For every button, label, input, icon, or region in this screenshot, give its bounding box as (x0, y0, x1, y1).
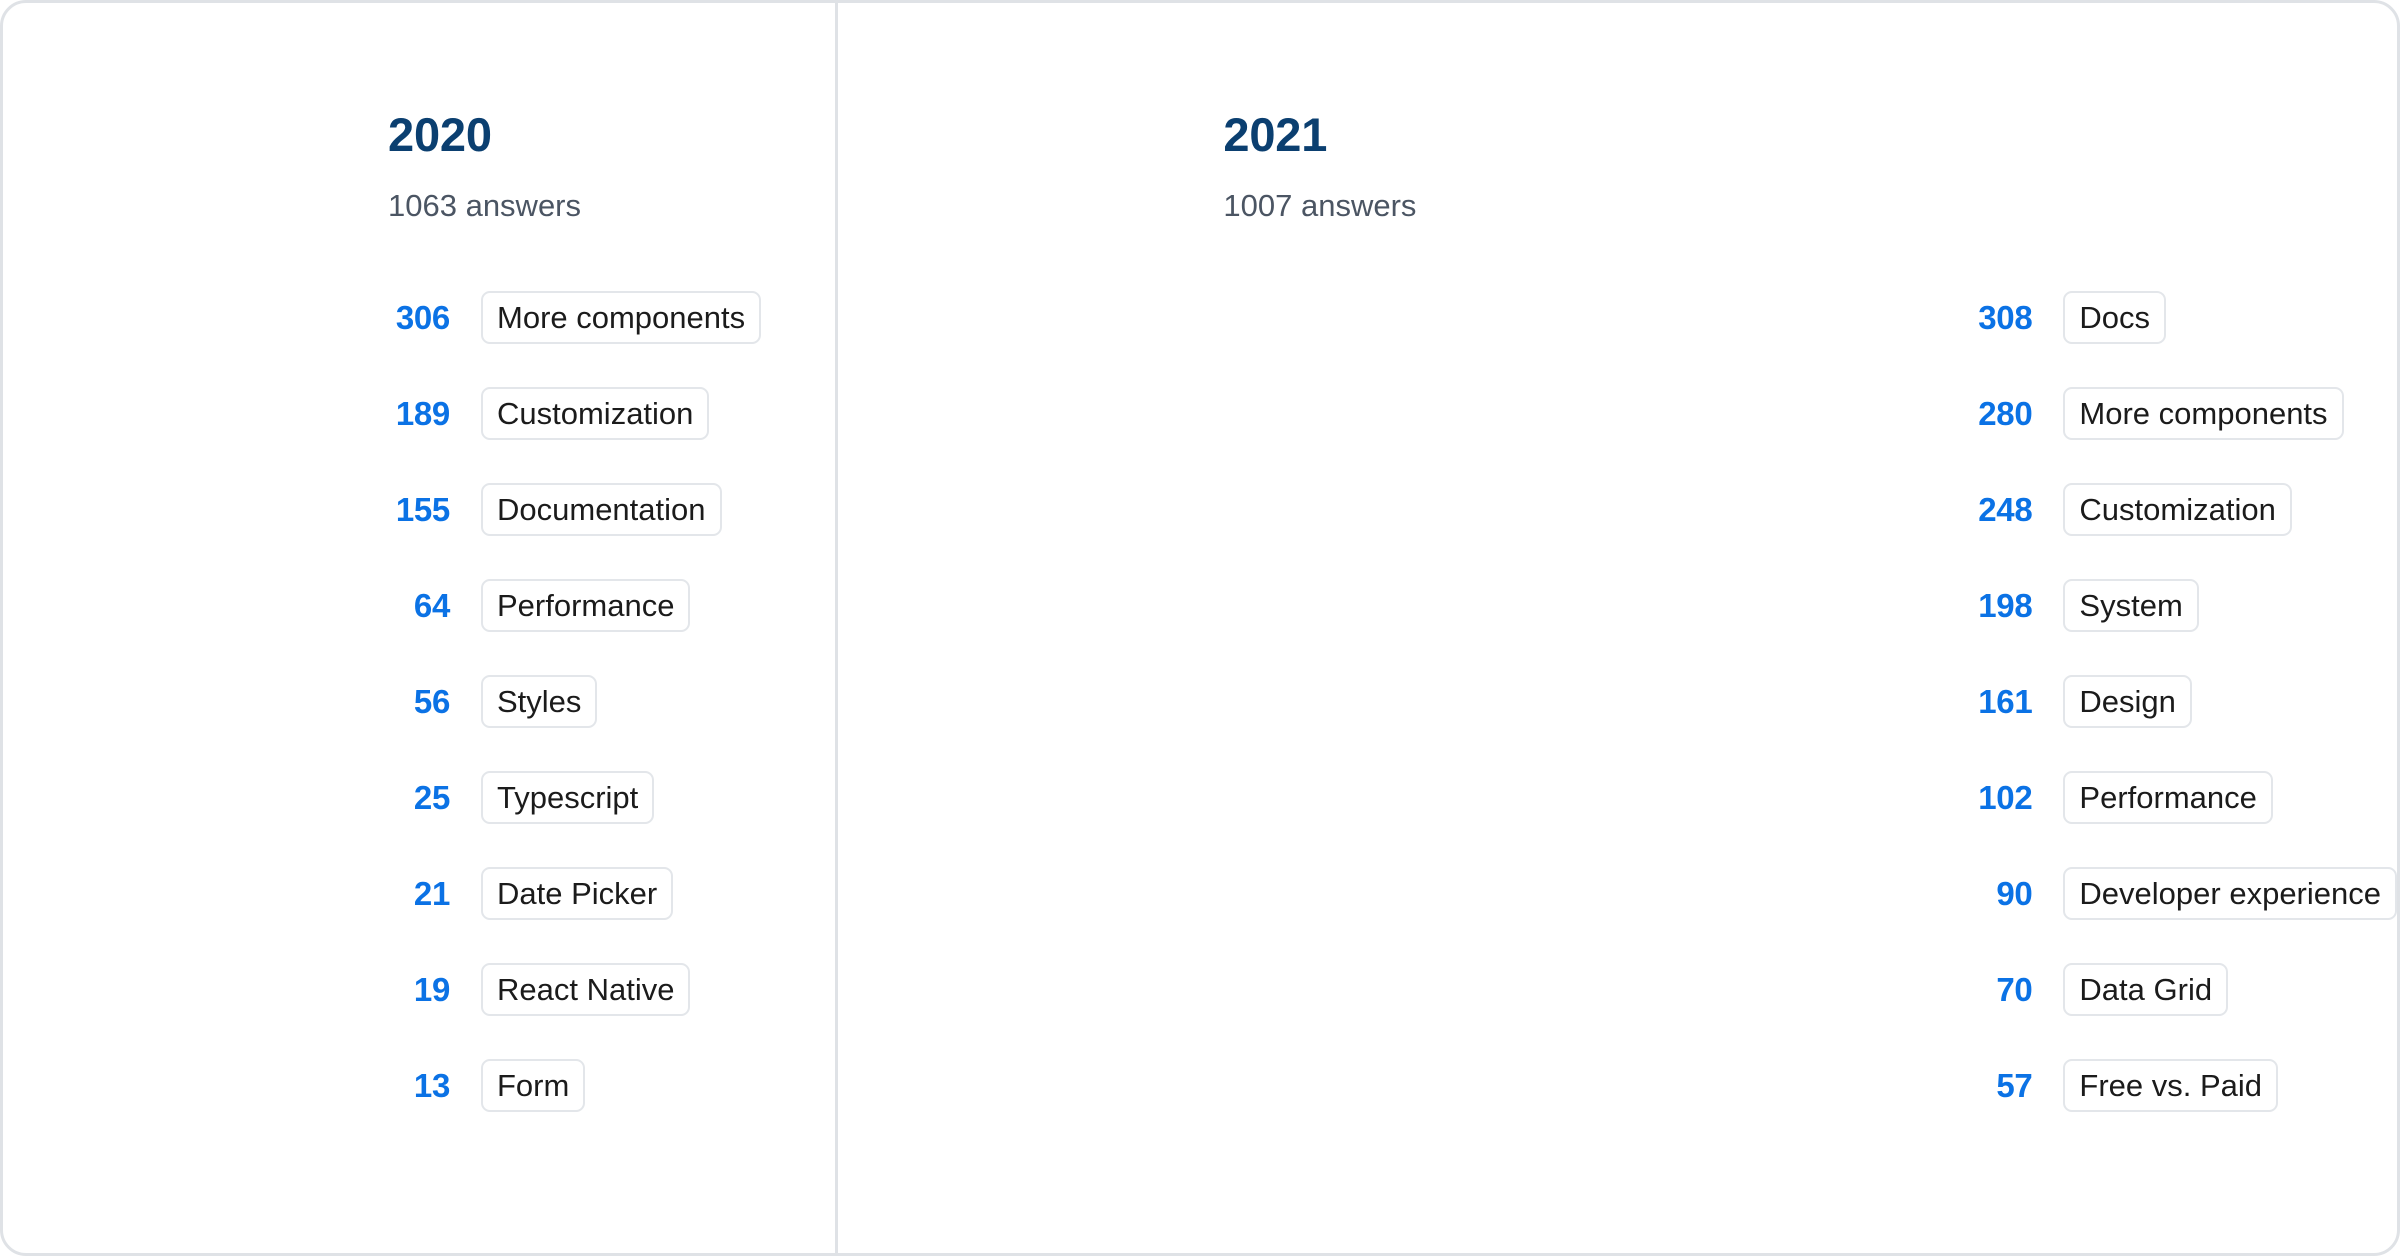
answer-chip[interactable]: Styles (481, 675, 597, 728)
list-item[interactable]: 90 Developer experience (838, 845, 2397, 941)
list-item[interactable]: 19 React Native (3, 941, 835, 1037)
answer-chip[interactable]: Form (481, 1059, 585, 1112)
list-item[interactable]: 64 Performance (3, 557, 835, 653)
answer-count: 25 (3, 781, 450, 814)
page-title-2020: 2020 (388, 111, 835, 158)
answer-count: 161 (838, 685, 2032, 718)
answer-count: 248 (838, 493, 2032, 526)
answer-chip[interactable]: React Native (481, 963, 690, 1016)
list-item[interactable]: 57 Free vs. Paid (838, 1037, 2397, 1133)
answer-count: 189 (3, 397, 450, 430)
list-item[interactable]: 25 Typescript (3, 749, 835, 845)
list-item[interactable]: 155 Documentation (3, 461, 835, 557)
answer-chip[interactable]: Customization (2063, 483, 2291, 536)
column-header-2021: 2021 1007 answers (838, 111, 2397, 221)
answer-chip[interactable]: System (2063, 579, 2198, 632)
answer-chip[interactable]: More components (2063, 387, 2343, 440)
list-item[interactable]: 13 Form (3, 1037, 835, 1133)
year-column-2021: 2021 1007 answers 308 Docs 280 More comp… (835, 3, 2397, 1253)
answer-chip[interactable]: More components (481, 291, 761, 344)
answer-count: 57 (838, 1069, 2032, 1102)
answer-count: 70 (838, 973, 2032, 1006)
list-item[interactable]: 280 More components (838, 365, 2397, 461)
list-item[interactable]: 308 Docs (838, 269, 2397, 365)
answer-count: 64 (3, 589, 450, 622)
answers-count-2020: 1063 answers (388, 190, 835, 221)
list-item[interactable]: 161 Design (838, 653, 2397, 749)
answer-chip[interactable]: Performance (481, 579, 690, 632)
answer-count: 102 (838, 781, 2032, 814)
answer-count: 308 (838, 301, 2032, 334)
list-item[interactable]: 21 Date Picker (3, 845, 835, 941)
answer-chip[interactable]: Typescript (481, 771, 654, 824)
answer-chip[interactable]: Documentation (481, 483, 722, 536)
year-column-2020: 2020 1063 answers 306 More components 18… (3, 3, 835, 1253)
answer-count: 198 (838, 589, 2032, 622)
answer-chip[interactable]: Date Picker (481, 867, 673, 920)
answers-count-2021: 1007 answers (1223, 190, 2397, 221)
answer-count: 19 (3, 973, 450, 1006)
answer-count: 21 (3, 877, 450, 910)
list-item[interactable]: 70 Data Grid (838, 941, 2397, 1037)
answer-count: 306 (3, 301, 450, 334)
answer-count: 90 (838, 877, 2032, 910)
answer-chip[interactable]: Customization (481, 387, 709, 440)
list-item[interactable]: 189 Customization (3, 365, 835, 461)
answer-chip[interactable]: Free vs. Paid (2063, 1059, 2278, 1112)
answer-chip[interactable]: Data Grid (2063, 963, 2228, 1016)
answer-count: 13 (3, 1069, 450, 1102)
answer-chip[interactable]: Developer experience (2063, 867, 2397, 920)
list-item[interactable]: 306 More components (3, 269, 835, 365)
comparison-panel: 2020 1063 answers 306 More components 18… (0, 0, 2400, 1256)
page-title-2021: 2021 (1223, 111, 2397, 158)
column-header-2020: 2020 1063 answers (3, 111, 835, 221)
answer-chip[interactable]: Performance (2063, 771, 2272, 824)
answer-list-2020: 306 More components 189 Customization 15… (3, 269, 835, 1133)
answer-list-2021: 308 Docs 280 More components 248 Customi… (838, 269, 2397, 1133)
answer-chip[interactable]: Design (2063, 675, 2192, 728)
list-item[interactable]: 248 Customization (838, 461, 2397, 557)
answer-count: 280 (838, 397, 2032, 430)
list-item[interactable]: 198 System (838, 557, 2397, 653)
list-item[interactable]: 102 Performance (838, 749, 2397, 845)
answer-count: 56 (3, 685, 450, 718)
list-item[interactable]: 56 Styles (3, 653, 835, 749)
answer-count: 155 (3, 493, 450, 526)
answer-chip[interactable]: Docs (2063, 291, 2166, 344)
